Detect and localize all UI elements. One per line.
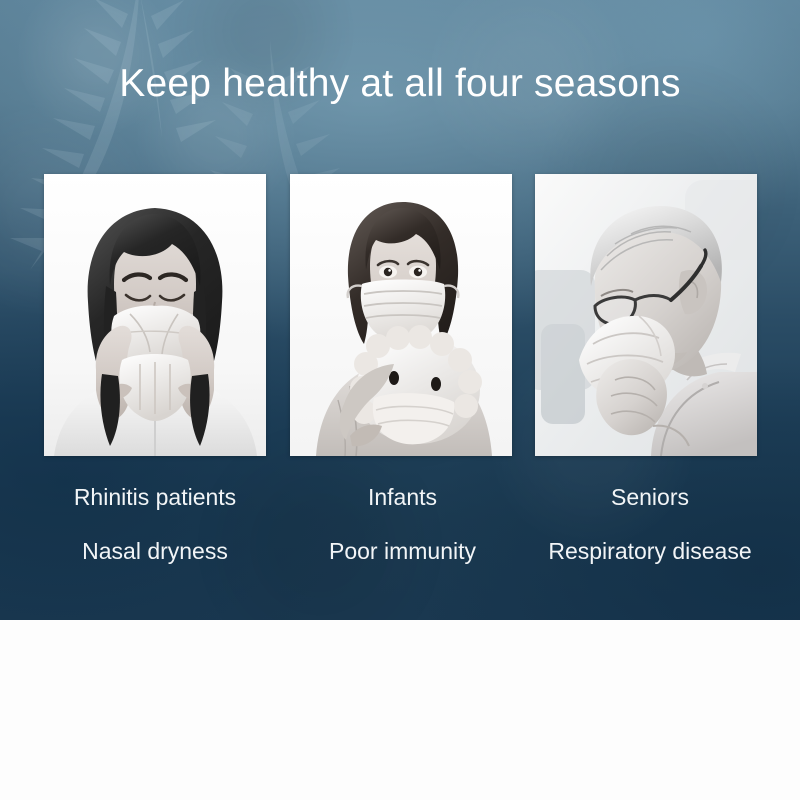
child-wearing-mask-photo	[290, 174, 512, 456]
products-section: Products	[0, 620, 800, 800]
caption-rhinitis-primary: Rhinitis patients	[44, 484, 266, 511]
caption-row-primary: Rhinitis patients Infants Seniors	[44, 484, 757, 511]
audience-card-rhinitis[interactable]	[44, 174, 266, 456]
woman-blowing-nose-photo	[44, 174, 266, 456]
caption-seniors-primary: Seniors	[539, 484, 761, 511]
caption-row-secondary: Nasal dryness Poor immunity Respiratory …	[44, 538, 757, 565]
caption-infants-secondary: Poor immunity	[292, 538, 514, 565]
senior-man-with-tissue-photo	[535, 174, 757, 456]
audience-card-infants[interactable]	[290, 174, 512, 456]
caption-seniors-secondary: Respiratory disease	[539, 538, 761, 565]
audience-card-seniors[interactable]	[535, 174, 757, 456]
audience-card-row	[44, 174, 757, 456]
caption-infants-primary: Infants	[292, 484, 514, 511]
product-listing-page: Keep healthy at all four seasons	[0, 0, 800, 800]
caption-rhinitis-secondary: Nasal dryness	[44, 538, 266, 565]
page-title: Keep healthy at all four seasons	[0, 62, 800, 106]
